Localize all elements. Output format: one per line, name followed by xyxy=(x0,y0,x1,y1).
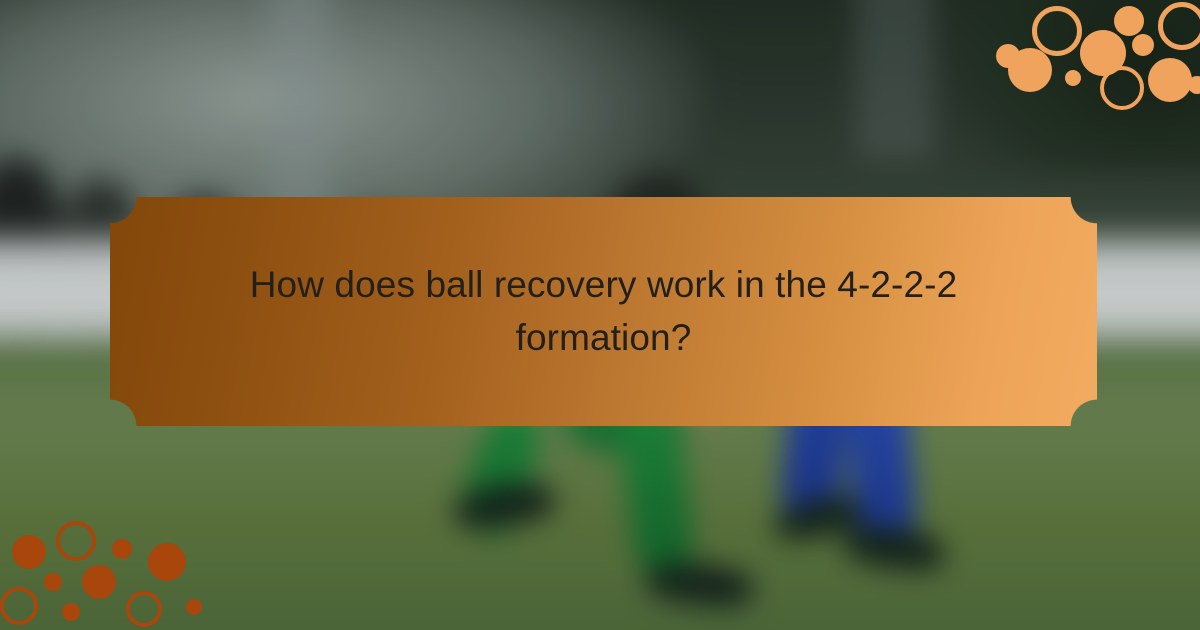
question-card: How does ball recovery work in the 4-2-2… xyxy=(110,197,1097,426)
question-card-graphic: How does ball recovery work in the 4-2-2… xyxy=(0,0,1200,630)
question-text: How does ball recovery work in the 4-2-2… xyxy=(110,259,1097,364)
